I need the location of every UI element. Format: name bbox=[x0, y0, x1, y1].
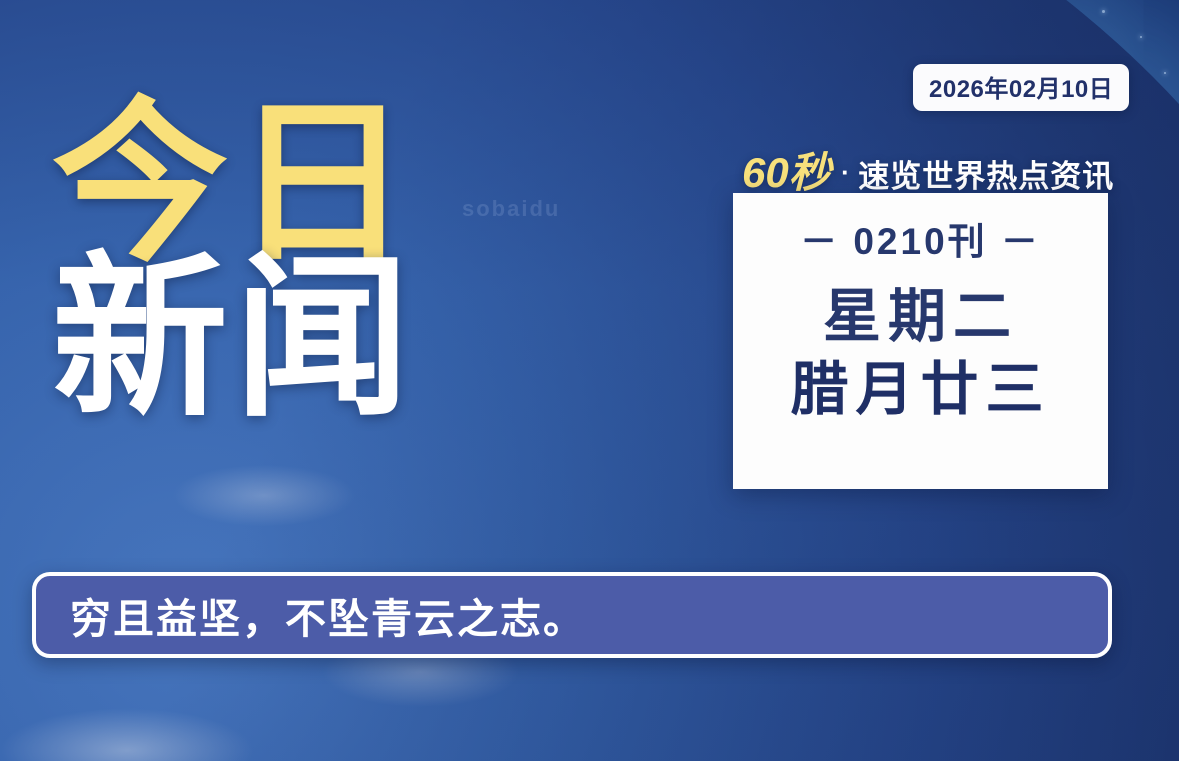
tagline-separator: · bbox=[841, 157, 850, 187]
quote-banner: 穷且益坚，不坠青云之志。 bbox=[32, 572, 1112, 658]
lunar-date-label: 腊月廿三 bbox=[790, 360, 1050, 421]
issue-info-card: － 0210刊 － 星期二 腊月廿三 bbox=[733, 193, 1108, 489]
background-watermark: sobaidu bbox=[462, 196, 560, 222]
tagline-text: 速览世界热点资讯 bbox=[858, 159, 1114, 194]
weekday-label: 星期二 bbox=[823, 287, 1018, 348]
news-poster: sobaidu 今日 新闻 2026年02月10日 60秒 · 速览世界热点资讯… bbox=[0, 0, 1179, 761]
issue-number: － 0210刊 － bbox=[800, 211, 1041, 265]
page-title: 今日 新闻 bbox=[52, 100, 416, 424]
tagline-seconds: 60秒 bbox=[742, 149, 831, 196]
headline-line-2: 新闻 bbox=[52, 255, 416, 424]
date-badge: 2026年02月10日 bbox=[913, 64, 1129, 111]
quote-text: 穷且益坚，不坠青云之志。 bbox=[36, 585, 586, 645]
tagline: 60秒 · 速览世界热点资讯 bbox=[742, 139, 1114, 200]
